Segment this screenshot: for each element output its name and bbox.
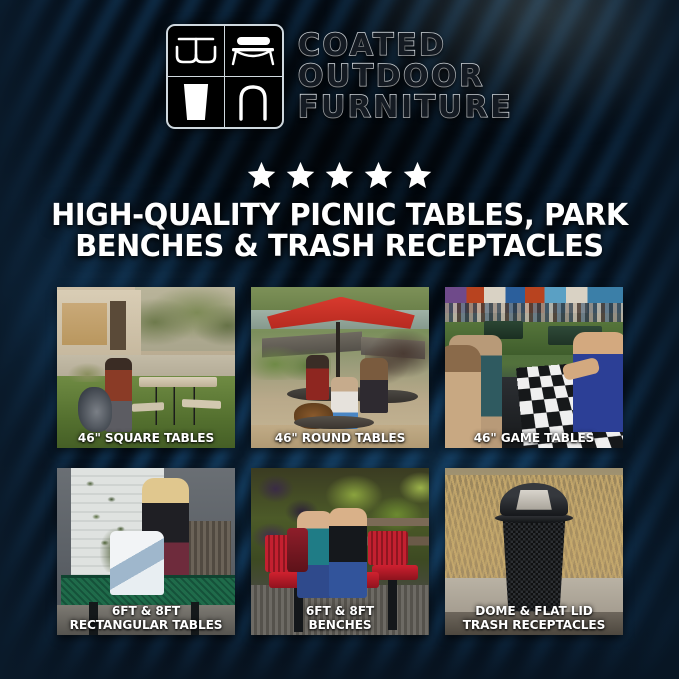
park-bench-icon [225, 26, 282, 77]
tile-caption: 6FT & 8FT RECTANGULAR TABLES [60, 604, 233, 631]
trash-receptacle-icon [168, 77, 225, 128]
product-photo [251, 287, 429, 448]
wordmark-line-2: OUTDOOR [298, 62, 513, 92]
tile-caption-line-1: DOME & FLAT LID [475, 603, 593, 618]
brand-header: COATED OUTDOOR FURNITURE [0, 24, 679, 129]
star-icon [285, 160, 316, 190]
tile-caption: 46" SQUARE TABLES [60, 431, 233, 445]
page-title: HIGH-QUALITY PICNIC TABLES, PARK BENCHES… [46, 200, 633, 262]
tile-caption-line-1: 6FT & 8FT [112, 603, 180, 618]
product-tile-round-tables[interactable]: 46" ROUND TABLES [251, 287, 429, 448]
product-photo [57, 287, 235, 448]
star-icon [324, 160, 355, 190]
product-tile-square-tables[interactable]: 46" SQUARE TABLES [57, 287, 235, 448]
tile-caption-line-2: TRASH RECEPTACLES [451, 618, 618, 632]
wordmark-line-1: COATED [298, 31, 513, 61]
headline-line-1: HIGH-QUALITY PICNIC TABLES, PARK [51, 198, 628, 233]
star-icon [402, 160, 433, 190]
tile-caption-line-1: 46" GAME TABLES [474, 430, 595, 445]
wordmark-line-3: FURNITURE [298, 93, 513, 123]
poster-canvas: COATED OUTDOOR FURNITURE HIGH-QUALITY PI… [0, 0, 679, 679]
tile-caption: DOME & FLAT LID TRASH RECEPTACLES [448, 604, 621, 631]
star-icon [246, 160, 277, 190]
product-photo [445, 287, 623, 448]
product-tile-trash-receptacles[interactable]: DOME & FLAT LID TRASH RECEPTACLES [445, 468, 623, 635]
tile-caption-line-1: 6FT & 8FT [306, 603, 374, 618]
product-tile-benches[interactable]: 6FT & 8FT BENCHES [251, 468, 429, 635]
tile-caption: 46" GAME TABLES [448, 431, 621, 445]
product-tile-game-tables[interactable]: 46" GAME TABLES [445, 287, 623, 448]
tile-caption-line-2: BENCHES [257, 618, 424, 632]
brand-logo-mark [166, 24, 284, 129]
tile-caption: 46" ROUND TABLES [254, 431, 427, 445]
tile-caption-line-2: RECTANGULAR TABLES [63, 618, 230, 632]
brand-wordmark: COATED OUTDOOR FURNITURE [298, 31, 513, 123]
rating-stars [0, 160, 679, 190]
product-tile-grid: 46" SQUARE TABLES 46" ROUND TABLES [57, 287, 623, 635]
tile-caption-line-1: 46" SQUARE TABLES [78, 430, 214, 445]
product-tile-rectangular-tables[interactable]: 6FT & 8FT RECTANGULAR TABLES [57, 468, 235, 635]
tile-caption-line-1: 46" ROUND TABLES [275, 430, 405, 445]
bike-rack-icon [225, 77, 282, 128]
tile-caption: 6FT & 8FT BENCHES [254, 604, 427, 631]
picnic-table-icon [168, 26, 225, 77]
star-icon [363, 160, 394, 190]
headline-line-2: BENCHES & TRASH RECEPTACLES [46, 231, 633, 262]
